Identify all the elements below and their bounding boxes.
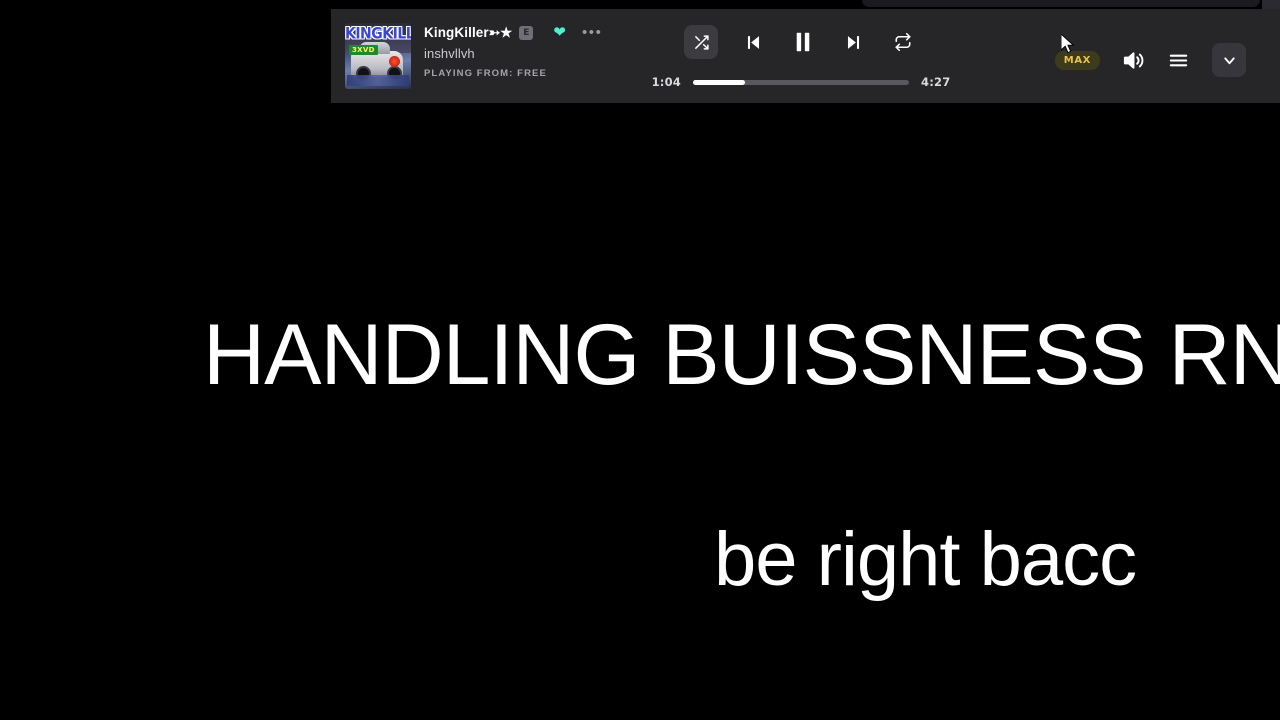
queue-list-icon	[1167, 49, 1190, 72]
album-art-bottom-strip	[347, 75, 409, 86]
top-panel-sliver-right	[1262, 0, 1280, 9]
album-art[interactable]: KINGKILLER 3XVD	[345, 23, 411, 89]
track-title[interactable]: KingKiller➳★	[424, 25, 512, 41]
previous-track-icon	[744, 33, 763, 52]
play-pause-button[interactable]	[788, 27, 818, 57]
player-center-column: 1:04 4:27	[631, 9, 971, 89]
next-track-button[interactable]	[838, 27, 868, 57]
progress-bar[interactable]	[693, 80, 909, 85]
shuffle-button[interactable]	[684, 25, 718, 59]
album-art-badge: 3XVD	[349, 45, 378, 55]
max-quality-badge[interactable]: MAX	[1055, 51, 1100, 70]
caption-main: HANDLING BUISSNESS RN	[203, 312, 1280, 398]
elapsed-time: 1:04	[647, 75, 681, 89]
screen-root: KINGKILLER 3XVD KingKiller➳★ E ❤ ••• ins…	[0, 0, 1280, 720]
album-art-taillight-icon	[389, 56, 400, 67]
album-art-title: KINGKILLER	[345, 25, 411, 43]
now-playing-text: KingKiller➳★ E ❤ ••• inshvllvh PLAYING F…	[424, 23, 603, 79]
top-panel-sliver	[862, 0, 1260, 7]
explicit-badge: E	[519, 26, 533, 40]
playback-controls	[684, 25, 918, 59]
player-bar: KINGKILLER 3XVD KingKiller➳★ E ❤ ••• ins…	[331, 9, 1280, 103]
total-time: 4:27	[921, 75, 955, 89]
next-track-icon	[844, 33, 863, 52]
volume-high-icon	[1122, 49, 1145, 72]
progress-row: 1:04 4:27	[647, 75, 955, 89]
heart-icon[interactable]: ❤	[553, 26, 566, 40]
player-right-column: MAX	[971, 9, 1280, 77]
more-options-icon[interactable]: •••	[582, 28, 603, 38]
track-title-row: KingKiller➳★ E ❤ •••	[424, 24, 603, 41]
pause-icon	[790, 29, 816, 55]
volume-button[interactable]	[1122, 49, 1145, 72]
playing-from-label: PLAYING FROM: FREE	[424, 68, 603, 79]
shuffle-icon	[693, 34, 710, 51]
caption-sub: be right bacc	[714, 522, 1136, 598]
queue-button[interactable]	[1167, 49, 1190, 72]
chevron-down-icon	[1221, 52, 1238, 69]
artist-name[interactable]: inshvllvh	[424, 46, 603, 61]
repeat-button[interactable]	[888, 27, 918, 57]
progress-bar-fill	[693, 80, 745, 85]
collapse-player-button[interactable]	[1212, 43, 1246, 77]
now-playing-section: KINGKILLER 3XVD KingKiller➳★ E ❤ ••• ins…	[331, 9, 631, 89]
repeat-icon	[894, 33, 912, 51]
previous-track-button[interactable]	[738, 27, 768, 57]
